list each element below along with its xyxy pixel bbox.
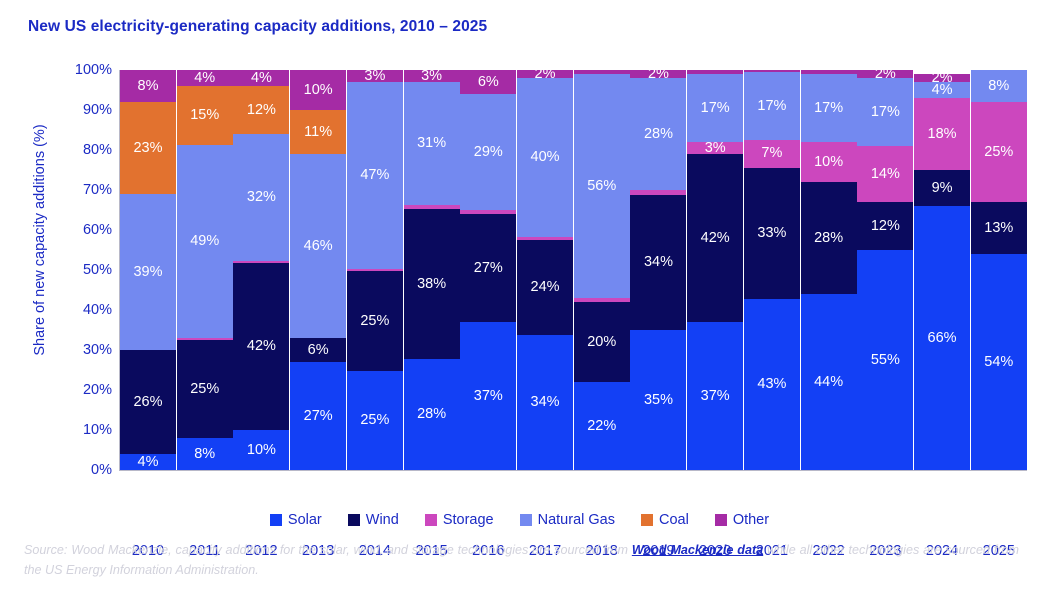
bar-segment-value: 8% <box>194 447 215 462</box>
y-tick-label: 100% <box>75 62 112 78</box>
bar-segment-value: 15% <box>190 108 219 123</box>
bar-segment-value: 17% <box>814 101 843 116</box>
bar-segment-value: 46% <box>304 239 333 254</box>
bar-segment-wind[interactable]: 27% <box>460 214 516 322</box>
bar-segment-value: 25% <box>190 382 219 397</box>
bar-segment-natural-gas[interactable]: 17% <box>857 78 913 146</box>
bar-segment-value: 25% <box>984 145 1013 160</box>
bar-segment-other[interactable]: 6% <box>460 70 516 94</box>
bar-segment-natural-gas[interactable]: 31% <box>404 82 460 205</box>
bar-segment-coal[interactable]: 23% <box>120 102 176 194</box>
y-tick-label: 50% <box>83 262 112 278</box>
bar-segment-natural-gas[interactable]: 40% <box>517 78 573 237</box>
bar-segment-value: 55% <box>871 353 900 368</box>
bar-segment-value: 10% <box>247 443 276 458</box>
bar-segment-value: 12% <box>871 219 900 234</box>
y-tick-label: 70% <box>83 182 112 198</box>
bar-column-2011[interactable]: 4%15%49%25%8% <box>177 70 233 470</box>
bar-segment-value: 9% <box>932 181 953 196</box>
bar-segment-value: 6% <box>478 75 499 90</box>
bar-column-2023[interactable]: 2%17%14%12%55% <box>857 70 913 470</box>
bar-segment-coal[interactable]: 15% <box>177 86 233 145</box>
bar-segment-solar[interactable]: 8% <box>177 438 233 470</box>
bar-segment-value: 11% <box>304 125 332 140</box>
bar-segment-natural-gas[interactable]: 4% <box>914 82 970 98</box>
bar-segment-value: 4% <box>138 455 159 470</box>
stacked-bar-series: 8%23%39%26%4%4%15%49%25%8%4%12%32%42%10%… <box>120 70 1027 470</box>
bar-segment-solar[interactable]: 34% <box>517 335 573 470</box>
bar-segment-value: 40% <box>531 150 560 165</box>
x-axis-line <box>119 470 1027 471</box>
bar-segment-value: 4% <box>932 83 953 98</box>
legend-swatch-icon <box>641 514 653 526</box>
bar-segment-value: 28% <box>644 127 673 142</box>
y-tick-label: 40% <box>83 302 112 318</box>
bar-segment-natural-gas[interactable]: 28% <box>630 78 686 190</box>
bar-segment-solar[interactable]: 66% <box>914 206 970 470</box>
bar-segment-storage[interactable]: 7% <box>744 140 800 168</box>
bar-segment-solar[interactable]: 10% <box>233 430 289 470</box>
bar-segment-solar[interactable]: 55% <box>857 250 913 470</box>
bar-column-2024[interactable]: 2%4%18%9%66% <box>914 70 970 470</box>
bar-segment-other[interactable]: 2% <box>857 70 913 78</box>
bar-segment-value: 35% <box>644 393 673 408</box>
wood-mackenzie-data-link[interactable]: Wood Mackenzie data <box>632 543 763 557</box>
bar-segment-value: 37% <box>474 389 503 404</box>
bar-segment-value: 13% <box>984 221 1013 236</box>
source-note: Source: Wood Mackenzie, capacity additio… <box>24 541 1019 580</box>
y-tick-label: 30% <box>83 342 112 358</box>
legend-item-other[interactable]: Other <box>715 512 769 528</box>
y-tick-label: 60% <box>83 222 112 238</box>
legend-item-coal[interactable]: Coal <box>641 512 689 528</box>
legend-swatch-icon <box>270 514 282 526</box>
legend-item-solar[interactable]: Solar <box>270 512 322 528</box>
bar-segment-other[interactable]: 2% <box>914 74 970 82</box>
legend-label: Wind <box>366 512 399 528</box>
bar-segment-natural-gas[interactable]: 17% <box>801 74 857 142</box>
bar-segment-value: 42% <box>701 231 730 246</box>
bar-segment-wind[interactable]: 38% <box>404 209 460 359</box>
y-tick-label: 0% <box>91 462 112 478</box>
bar-segment-value: 22% <box>587 419 616 434</box>
bar-segment-value: 10% <box>304 83 333 98</box>
bar-segment-storage[interactable]: 3% <box>687 142 743 154</box>
legend-item-natural-gas[interactable]: Natural Gas <box>520 512 615 528</box>
bar-segment-value: 14% <box>871 167 900 182</box>
bar-segment-natural-gas[interactable]: 47% <box>347 82 403 269</box>
bar-segment-natural-gas[interactable]: 32% <box>233 134 289 261</box>
bar-column-2015[interactable]: 3%31%38%28% <box>404 70 460 470</box>
bar-segment-storage[interactable]: 14% <box>857 146 913 202</box>
bar-segment-value: 8% <box>138 79 159 94</box>
bar-segment-other[interactable]: 2% <box>517 70 573 78</box>
bar-segment-value: 66% <box>928 331 957 346</box>
bar-segment-value: 28% <box>814 231 843 246</box>
bar-segment-value: 44% <box>814 375 843 390</box>
bar-segment-solar[interactable]: 25% <box>347 371 403 470</box>
bar-segment-value: 49% <box>190 234 219 249</box>
bar-segment-value: 12% <box>247 103 276 118</box>
legend-label: Storage <box>443 512 494 528</box>
bar-segment-value: 25% <box>360 314 389 329</box>
legend-item-storage[interactable]: Storage <box>425 512 494 528</box>
bar-segment-value: 56% <box>587 179 616 194</box>
bar-column-2025[interactable]: 8%25%13%54% <box>971 70 1027 470</box>
bar-segment-solar[interactable]: 27% <box>290 362 346 470</box>
bar-segment-wind[interactable]: 6% <box>290 338 346 362</box>
bar-segment-solar[interactable]: 54% <box>971 254 1027 470</box>
bar-segment-value: 43% <box>757 377 786 392</box>
bar-segment-wind[interactable]: 28% <box>801 182 857 294</box>
chart-plot-area: Share of new capacity additions (%) 100%… <box>0 62 1039 477</box>
bar-segment-value: 4% <box>194 71 215 86</box>
bar-segment-storage[interactable]: 10% <box>801 142 857 182</box>
bar-segment-value: 20% <box>587 335 616 350</box>
bar-segment-value: 28% <box>417 407 446 422</box>
bar-column-2010[interactable]: 8%23%39%26%4% <box>120 70 176 470</box>
bar-segment-value: 17% <box>757 99 786 114</box>
bar-column-2017[interactable]: 2%40%24%34% <box>517 70 573 470</box>
source-text-before: Source: Wood Mackenzie, capacity additio… <box>24 543 632 557</box>
bar-segment-value: 33% <box>757 226 786 241</box>
bar-segment-value: 25% <box>360 413 389 428</box>
bar-column-2014[interactable]: 3%47%25%25% <box>347 70 403 470</box>
bar-segment-other[interactable]: 2% <box>630 70 686 78</box>
bar-column-2019[interactable]: 2%28%34%35% <box>630 70 686 470</box>
bar-segment-value: 38% <box>417 277 446 292</box>
legend-label: Other <box>733 512 769 528</box>
bar-segment-other[interactable]: 8% <box>120 70 176 102</box>
bar-segment-other[interactable]: 4% <box>233 70 289 86</box>
y-tick-label: 20% <box>83 382 112 398</box>
bar-segment-value: 18% <box>928 127 957 142</box>
bar-segment-value: 31% <box>417 136 446 151</box>
bar-column-2022[interactable]: 17%10%28%44% <box>801 70 857 470</box>
bar-segment-value: 7% <box>761 146 782 161</box>
y-tick-label: 90% <box>83 102 112 118</box>
bar-segment-solar[interactable]: 28% <box>404 359 460 470</box>
legend-swatch-icon <box>520 514 532 526</box>
bar-segment-solar[interactable]: 37% <box>687 322 743 470</box>
bar-column-2021[interactable]: 17%7%33%43% <box>744 70 800 470</box>
bar-column-2020[interactable]: 17%3%42%37% <box>687 70 743 470</box>
bar-segment-value: 29% <box>474 145 503 160</box>
bar-segment-natural-gas[interactable]: 17% <box>744 72 800 140</box>
legend-swatch-icon <box>715 514 727 526</box>
bar-segment-coal[interactable]: 11% <box>290 110 346 154</box>
bar-segment-wind[interactable]: 34% <box>630 195 686 331</box>
bar-segment-value: 26% <box>133 395 162 410</box>
bar-segment-value: 47% <box>360 168 389 183</box>
bar-segment-value: 42% <box>247 339 276 354</box>
legend-swatch-icon <box>425 514 437 526</box>
page-title: New US electricity-generating capacity a… <box>28 18 487 36</box>
bar-segment-wind[interactable]: 26% <box>120 350 176 454</box>
bar-segment-wind[interactable]: 33% <box>744 168 800 299</box>
bar-segment-other[interactable]: 3% <box>404 70 460 82</box>
bar-segment-natural-gas[interactable]: 49% <box>177 145 233 338</box>
bar-segment-solar[interactable]: 22% <box>574 382 630 470</box>
bar-segment-natural-gas[interactable]: 39% <box>120 194 176 350</box>
bar-segment-value: 39% <box>133 265 162 280</box>
bar-segment-wind[interactable]: 13% <box>971 202 1027 254</box>
legend-label: Coal <box>659 512 689 528</box>
bar-segment-value: 34% <box>644 255 673 270</box>
legend-label: Natural Gas <box>538 512 615 528</box>
bar-segment-wind[interactable]: 42% <box>687 154 743 322</box>
y-tick-label: 10% <box>83 422 112 438</box>
bar-segment-natural-gas[interactable]: 29% <box>460 94 516 210</box>
bar-segment-value: 17% <box>871 105 900 120</box>
bar-segment-natural-gas[interactable]: 46% <box>290 154 346 338</box>
bar-segment-value: 10% <box>814 155 843 170</box>
bar-segment-storage[interactable]: 18% <box>914 98 970 170</box>
bar-segment-value: 4% <box>251 71 272 86</box>
chart-legend: SolarWindStorageNatural GasCoalOther <box>0 512 1039 528</box>
bar-segment-natural-gas[interactable]: 17% <box>687 74 743 142</box>
y-axis-ticks: 100%90%80%70%60%50%40%30%20%10%0% <box>44 70 112 470</box>
bar-segment-coal[interactable]: 12% <box>233 86 289 134</box>
bar-segment-value: 27% <box>474 261 503 276</box>
bar-segment-solar[interactable]: 37% <box>460 322 516 470</box>
legend-label: Solar <box>288 512 322 528</box>
bar-segment-storage[interactable]: 25% <box>971 102 1027 202</box>
bar-segment-natural-gas[interactable]: 56% <box>574 74 630 298</box>
legend-item-wind[interactable]: Wind <box>348 512 399 528</box>
bar-segment-wind[interactable]: 25% <box>177 340 233 439</box>
bar-segment-value: 6% <box>308 343 329 358</box>
bar-segment-wind[interactable]: 12% <box>857 202 913 250</box>
bar-segment-wind[interactable]: 25% <box>347 271 403 370</box>
bar-column-2016[interactable]: 6%29%27%37% <box>460 70 516 470</box>
bar-segment-solar[interactable]: 43% <box>744 299 800 470</box>
bar-column-2012[interactable]: 4%12%32%42%10% <box>233 70 289 470</box>
bar-segment-other[interactable]: 10% <box>290 70 346 110</box>
bar-column-2013[interactable]: 10%11%46%6%27% <box>290 70 346 470</box>
bar-segment-wind[interactable]: 20% <box>574 302 630 382</box>
bar-segment-value: 34% <box>531 395 560 410</box>
bar-segment-value: 23% <box>133 141 162 156</box>
bar-segment-value: 24% <box>531 280 560 295</box>
bar-segment-value: 27% <box>304 409 333 424</box>
y-tick-label: 80% <box>83 142 112 158</box>
bar-segment-other[interactable]: 4% <box>177 70 233 86</box>
bar-segment-value: 17% <box>701 101 730 116</box>
legend-swatch-icon <box>348 514 360 526</box>
bar-segment-solar[interactable]: 35% <box>630 330 686 470</box>
bar-segment-solar[interactable]: 44% <box>801 294 857 470</box>
bar-segment-value: 37% <box>701 389 730 404</box>
bar-segment-wind[interactable]: 42% <box>233 263 289 430</box>
bar-segment-wind[interactable]: 24% <box>517 240 573 335</box>
bar-segment-wind[interactable]: 9% <box>914 170 970 206</box>
bar-segment-other[interactable]: 3% <box>347 70 403 82</box>
bar-column-2018[interactable]: 56%20%22% <box>574 70 630 470</box>
bar-segment-natural-gas[interactable]: 8% <box>971 70 1027 102</box>
bar-segment-solar[interactable]: 4% <box>120 454 176 470</box>
bar-segment-value: 32% <box>247 190 276 205</box>
bar-segment-value: 8% <box>988 79 1009 94</box>
bar-segment-value: 54% <box>984 355 1013 370</box>
